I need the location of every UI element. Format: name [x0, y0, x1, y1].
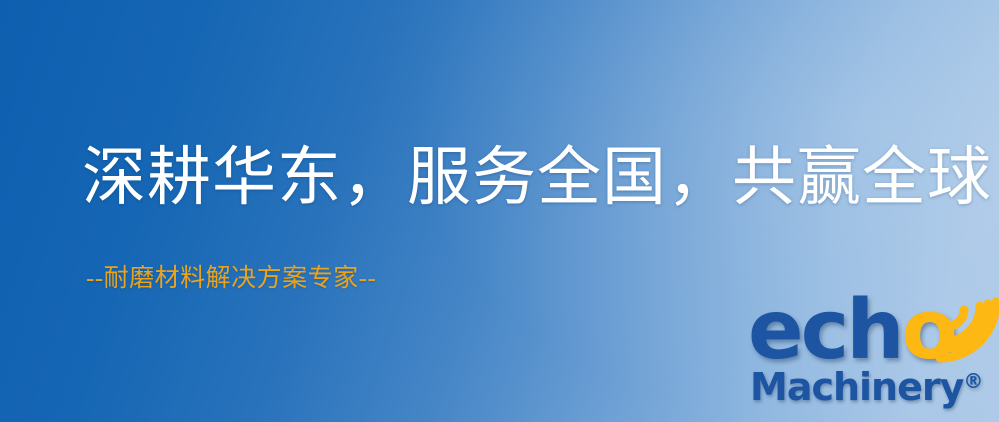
- logo-echo-blue-letters: ech: [748, 283, 902, 378]
- logo-wordmark: echo: [744, 296, 996, 374]
- registered-trademark-icon: ®: [963, 369, 983, 393]
- promo-banner: 深耕华东，服务全国，共赢全球 --耐磨材料解决方案专家-- echo: [0, 0, 999, 422]
- logo-tagline-text: Machinery: [750, 365, 963, 409]
- banner-headline: 深耕华东，服务全国，共赢全球: [82, 146, 992, 210]
- logo-echo-text: echo: [748, 290, 955, 372]
- logo-tagline: Machinery®: [750, 368, 983, 406]
- signal-waves-icon: [930, 292, 999, 364]
- banner-subtitle: --耐磨材料解决方案专家--: [86, 266, 376, 291]
- echo-machinery-logo[interactable]: echo: [744, 296, 996, 418]
